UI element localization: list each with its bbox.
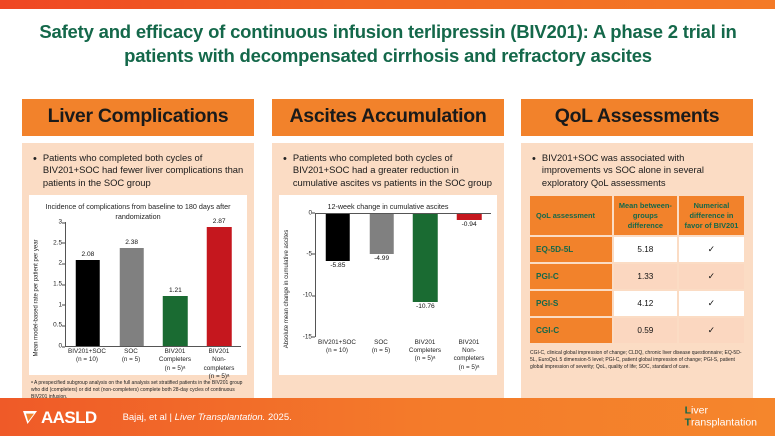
- bar-slot: 2.87: [197, 222, 241, 346]
- lt-rest-iver: iver: [691, 404, 708, 416]
- bar-value-label: 2.08: [81, 251, 94, 258]
- chart-title-liver: Incidence of complications from baseline…: [33, 202, 243, 221]
- footer-bar: AASLD Bajaj, et al | Liver Transplantati…: [0, 398, 775, 436]
- qol-cell-assessment: PGI-C: [530, 264, 612, 289]
- bar-slot: -0.94: [447, 213, 491, 337]
- bar-value-label: 2.38: [125, 239, 138, 246]
- x-tick-label: SOC(n = 5): [109, 348, 153, 381]
- bullet-marker-icon: •: [281, 152, 287, 190]
- citation-authors: Bajaj, et al |: [123, 412, 175, 423]
- aasld-logo: AASLD: [22, 409, 97, 426]
- y-tick-label: 2: [58, 260, 62, 267]
- panel-heading-qol: QoL Assessments: [521, 99, 753, 136]
- qol-cell-difference: 1.33: [614, 264, 677, 289]
- y-tick-label: -10: [303, 292, 312, 299]
- panel-liver-complications: Liver Complications • Patients who compl…: [22, 99, 254, 408]
- y-axis-label-ascites: Absolute mean change in cumulative ascit…: [281, 213, 293, 365]
- qol-col-favor: Numerical difference in favor of BIV201: [679, 196, 744, 235]
- bar-slot: -10.76: [404, 213, 448, 337]
- bar: [76, 260, 101, 346]
- bar-slot: -4.99: [360, 213, 404, 337]
- qol-col-assessment: QoL assessment: [530, 196, 612, 235]
- panel-body-ascites: • Patients who completed both cycles of …: [272, 143, 504, 408]
- bullet-marker-icon: •: [530, 152, 536, 190]
- citation-journal: Liver Transplantation.: [175, 412, 266, 423]
- qol-cell-favor-check-icon: ✓: [679, 237, 744, 262]
- chart-ascites-accumulation: 12-week change in cumulative ascites Abs…: [279, 195, 497, 375]
- qol-table-row: PGI-S4.12✓: [530, 291, 744, 316]
- aasld-wordmark: AASLD: [41, 409, 97, 426]
- qol-table-row: CGI-C0.59✓: [530, 318, 744, 343]
- bar-value-label: -10.76: [416, 303, 435, 310]
- bar: [207, 227, 232, 346]
- bullet-qol: • BIV201+SOC was associated with improve…: [528, 150, 746, 190]
- bar: [119, 248, 144, 346]
- bar-value-label: -5.85: [330, 262, 345, 269]
- x-tick-label: SOC(n = 5): [359, 339, 403, 372]
- bar-value-label: 1.21: [169, 287, 182, 294]
- qol-cell-difference: 5.18: [614, 237, 677, 262]
- x-axis-labels-ascites: BIV201+SOC(n = 10)SOC(n = 5)BIV201Comple…: [315, 339, 491, 372]
- x-tick-label: BIV201+SOC(n = 10): [315, 339, 359, 372]
- bullet-text-liver: Patients who completed both cycles of BI…: [43, 152, 245, 190]
- qol-table-row: PGI-C1.33✓: [530, 264, 744, 289]
- panel-ascites-accumulation: Ascites Accumulation • Patients who comp…: [272, 99, 504, 408]
- y-axis-ticks-liver: 00.511.522.53: [43, 222, 65, 346]
- bar: [163, 296, 188, 346]
- qol-cell-favor-check-icon: ✓: [679, 318, 744, 343]
- y-tick-label: 0: [58, 343, 62, 350]
- y-axis-label-liver: Mean model-based rate per patient per ye…: [31, 222, 43, 374]
- qol-cell-favor-check-icon: ✓: [679, 264, 744, 289]
- y-tick-label: 3: [58, 219, 62, 226]
- qol-cell-assessment: CGI-C: [530, 318, 612, 343]
- y-tick-label: -15: [303, 333, 312, 340]
- bar: [326, 213, 351, 261]
- chart-liver-complications: Incidence of complications from baseline…: [29, 195, 247, 375]
- bar-slot: 2.08: [66, 222, 110, 346]
- bar-value-label: 2.87: [213, 218, 226, 225]
- qol-cell-assessment: PGI-S: [530, 291, 612, 316]
- panel-qol-assessments: QoL Assessments • BIV201+SOC was associa…: [521, 99, 753, 408]
- x-tick-label: BIV201Completers(n = 5)ᵃ: [403, 339, 447, 372]
- bar-slot: 1.21: [154, 222, 198, 346]
- y-tick-label: 1: [58, 301, 62, 308]
- x-axis-labels-liver: BIV201+SOC(n = 10)SOC(n = 5)BIV201Comple…: [65, 348, 241, 381]
- bar: [369, 213, 394, 254]
- qol-table-header-row: QoL assessment Mean between-groups diffe…: [530, 196, 744, 235]
- bar-value-label: -4.99: [374, 255, 389, 262]
- x-tick-label: BIV201+SOC(n = 10): [65, 348, 109, 381]
- bullet-liver: • Patients who completed both cycles of …: [29, 150, 247, 190]
- qol-col-difference: Mean between-groups difference: [614, 196, 677, 235]
- bar: [457, 213, 482, 221]
- bar-group-liver: 2.082.381.212.87: [66, 222, 241, 346]
- plot-area-ascites: -5.85-4.99-10.76-0.94: [315, 213, 491, 337]
- y-tick-label: 0.5: [53, 322, 62, 329]
- bullet-text-ascites: Patients who completed both cycles of BI…: [293, 152, 495, 190]
- bullet-ascites: • Patients who completed both cycles of …: [279, 150, 497, 190]
- bar-value-label: -0.94: [462, 221, 477, 228]
- aasld-mark-icon: [22, 410, 39, 425]
- qol-cell-favor-check-icon: ✓: [679, 291, 744, 316]
- bar-slot: -5.85: [316, 213, 360, 337]
- qol-table: QoL assessment Mean between-groups diffe…: [528, 194, 746, 345]
- footnote-qol: CGI-C, clinical global impression of cha…: [528, 350, 746, 371]
- bar: [413, 213, 438, 302]
- qol-cell-assessment: EQ-5D-5L: [530, 237, 612, 262]
- panel-heading-liver: Liver Complications: [22, 99, 254, 136]
- y-tick-label: 0: [308, 209, 312, 216]
- bullet-marker-icon: •: [31, 152, 37, 190]
- lt-logo-line2: Transplantation: [685, 417, 757, 429]
- bullet-text-qol: BIV201+SOC was associated with improveme…: [542, 152, 744, 190]
- qol-cell-difference: 0.59: [614, 318, 677, 343]
- qol-table-row: EQ-5D-5L5.18✓: [530, 237, 744, 262]
- plot-area-liver: 2.082.381.212.87: [65, 222, 241, 346]
- panel-body-liver: • Patients who completed both cycles of …: [22, 143, 254, 408]
- y-tick-label: -5: [306, 250, 312, 257]
- y-tick-label: 1.5: [53, 281, 62, 288]
- bar-slot: 2.38: [110, 222, 154, 346]
- citation: Bajaj, et al | Liver Transplantation. 20…: [123, 412, 292, 423]
- page-title: Safety and efficacy of continuous infusi…: [26, 20, 750, 68]
- y-tick-label: 2.5: [53, 239, 62, 246]
- plot-wrap-ascites: Absolute mean change in cumulative ascit…: [283, 213, 493, 365]
- liver-transplantation-logo: Liver Transplantation: [685, 405, 757, 429]
- panel-body-qol: • BIV201+SOC was associated with improve…: [521, 143, 753, 408]
- citation-year: 2025.: [265, 412, 291, 423]
- zero-line-ascites: [316, 213, 491, 214]
- y-axis-ticks-ascites: 0-5-10-15: [293, 213, 315, 337]
- lt-rest-ransplantation: ransplantation: [691, 416, 757, 428]
- x-tick-label: BIV201Completers(n = 5)ᵃ: [153, 348, 197, 381]
- x-tick-label: BIV201Non-completers(n = 5)ᵃ: [197, 348, 241, 381]
- top-accent-bar: [0, 0, 775, 9]
- qol-cell-difference: 4.12: [614, 291, 677, 316]
- plot-wrap-liver: Mean model-based rate per patient per ye…: [33, 222, 243, 374]
- panel-heading-ascites: Ascites Accumulation: [272, 99, 504, 136]
- chart-title-ascites: 12-week change in cumulative ascites: [283, 202, 493, 211]
- x-tick-label: BIV201Non-completers(n = 5)ᵃ: [447, 339, 491, 372]
- bar-group-ascites: -5.85-4.99-10.76-0.94: [316, 213, 491, 337]
- x-axis-line-liver: [65, 346, 241, 347]
